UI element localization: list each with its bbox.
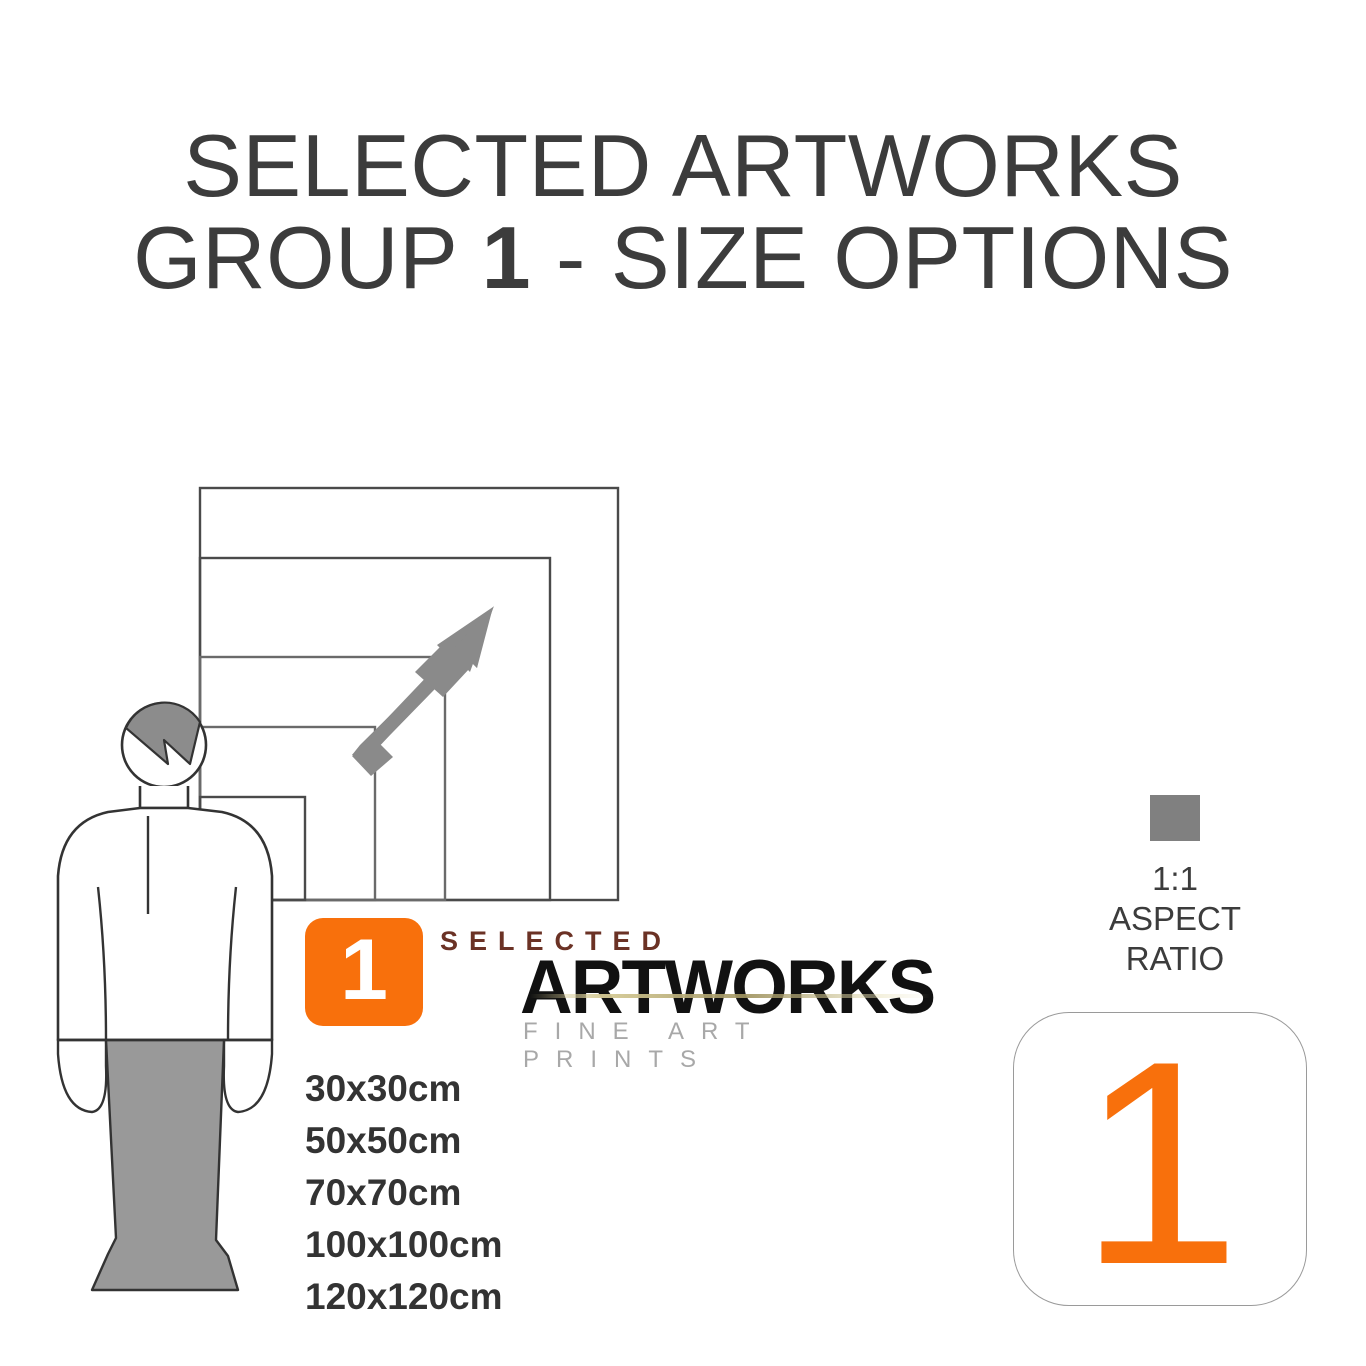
brand-logo: 1 SELECTED ARTWORKS FINE ART PRINTS <box>305 918 945 1043</box>
size-option: 70x70cm <box>305 1167 725 1219</box>
aspect-ratio-swatch <box>1150 795 1200 841</box>
aspect-ratio-label-2: RATIO <box>1030 939 1320 979</box>
title-group-number: 1 <box>482 208 531 307</box>
aspect-ratio-value: 1:1 <box>1030 859 1320 899</box>
page-title: SELECTED ARTWORKS GROUP 1 - SIZE OPTIONS <box>0 120 1366 303</box>
aspect-ratio-block: 1:1 ASPECT RATIO <box>1030 795 1320 979</box>
title-line-2: GROUP 1 - SIZE OPTIONS <box>0 212 1366 304</box>
person-lower-body <box>92 1040 238 1290</box>
size-option: 120x120cm <box>305 1271 725 1323</box>
title-line-2-suffix: - SIZE OPTIONS <box>531 208 1233 307</box>
title-line-2-prefix: GROUP <box>133 208 482 307</box>
person-neck <box>140 786 188 808</box>
person-hand-left <box>58 1040 106 1112</box>
logo-distress-streak <box>530 994 930 998</box>
size-options-list: 30x30cm 50x50cm 70x70cm 100x100cm 120x12… <box>305 1063 725 1323</box>
scale-reference-person <box>40 680 300 1320</box>
aspect-ratio-label-1: ASPECT <box>1030 899 1320 939</box>
size-option: 30x30cm <box>305 1063 725 1115</box>
group-number-badge-value: 1 <box>1014 1013 1306 1305</box>
size-option: 100x100cm <box>305 1219 725 1271</box>
person-torso <box>58 808 272 1040</box>
title-line-1: SELECTED ARTWORKS <box>0 120 1366 212</box>
person-hand-right <box>224 1040 272 1112</box>
growth-arrow-icon <box>352 606 494 776</box>
size-option: 50x50cm <box>305 1115 725 1167</box>
group-number-badge: 1 <box>1013 1012 1307 1306</box>
logo-group-badge: 1 <box>305 918 423 1026</box>
logo-group-badge-number: 1 <box>305 918 423 1026</box>
